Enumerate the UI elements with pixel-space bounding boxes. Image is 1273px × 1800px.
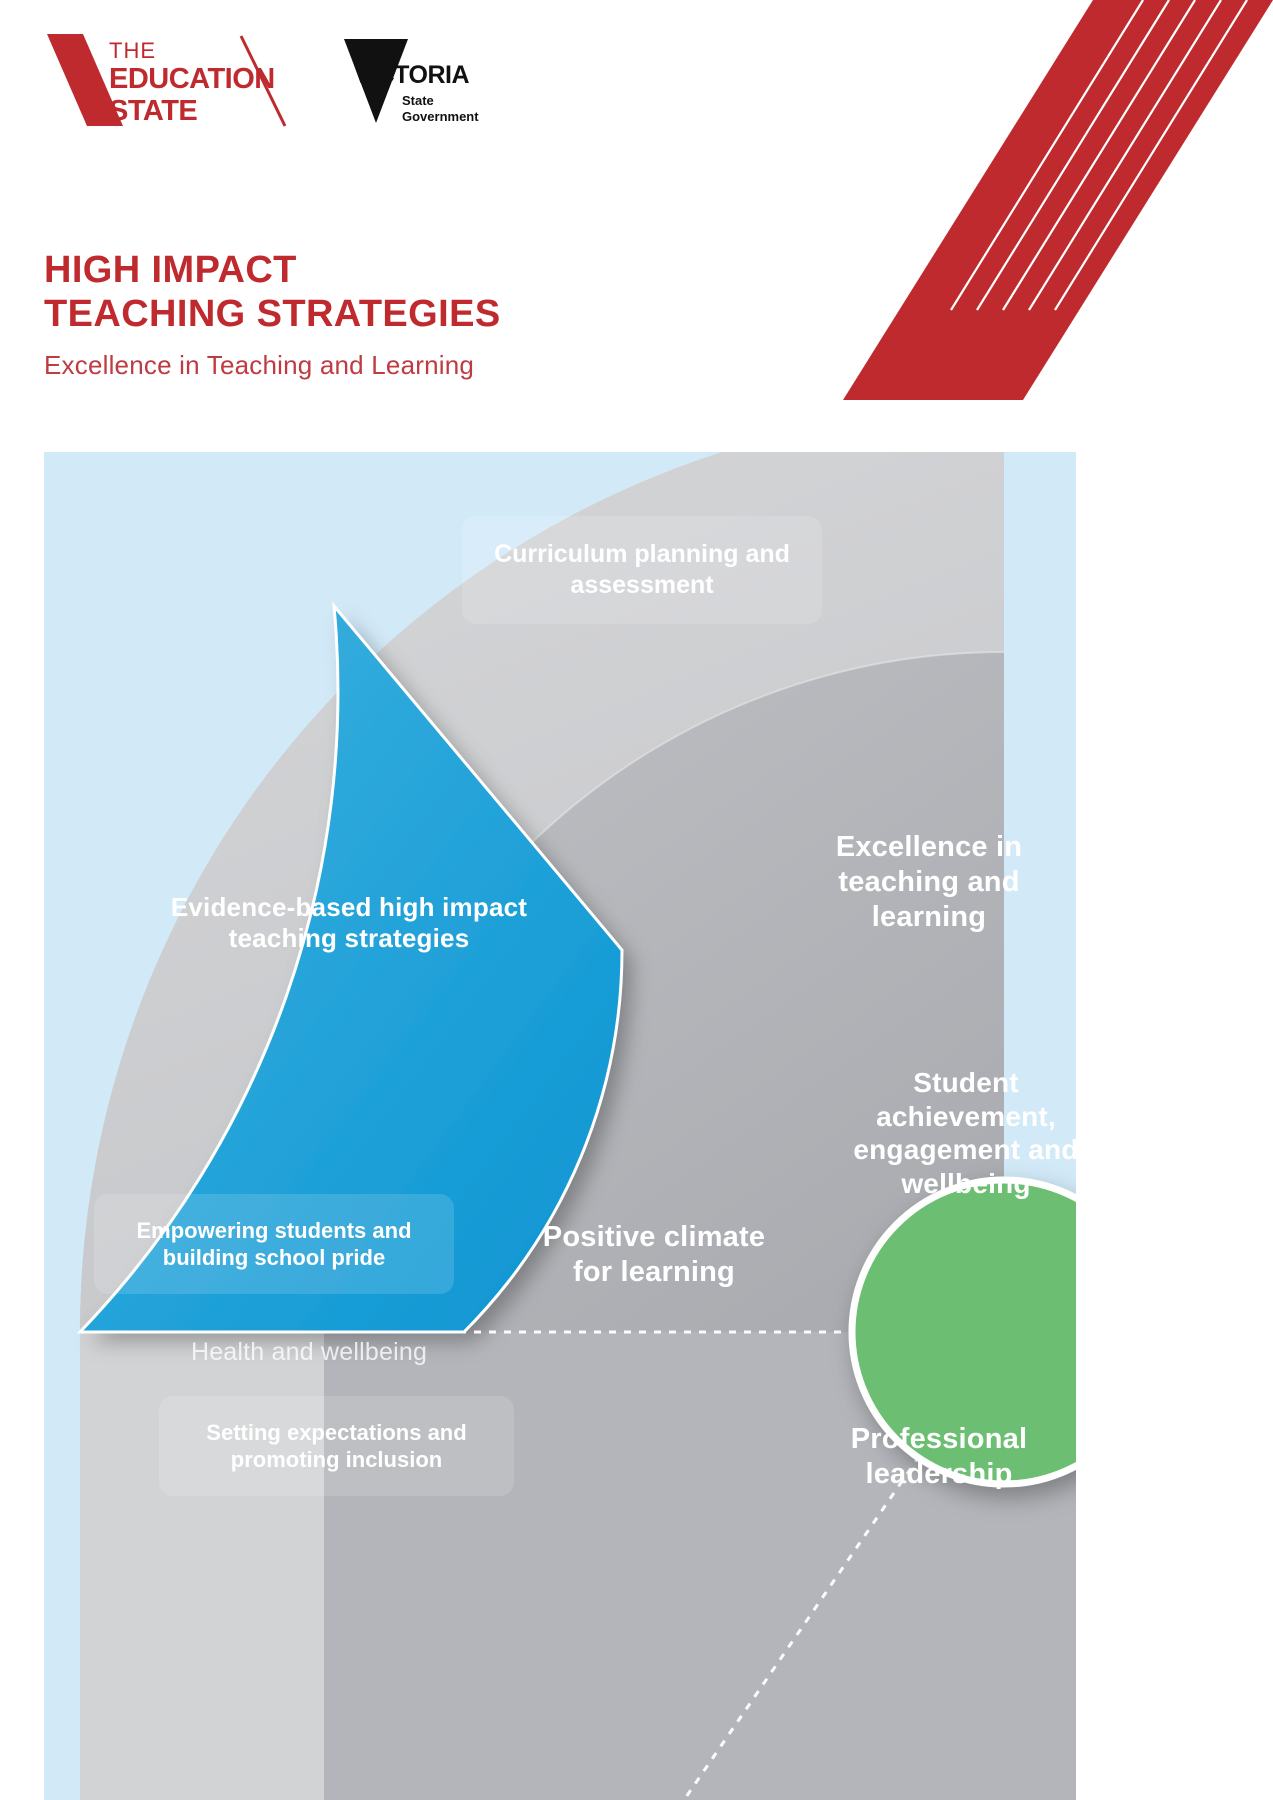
svg-text:EDUCATION: EDUCATION	[109, 63, 275, 95]
victoria-state-government-logo: VICTORIA State Government	[340, 35, 500, 130]
education-state-logo: THE EDUCATION STATE	[45, 30, 315, 130]
label-professional-leadership[interactable]: Professional leadership	[789, 1422, 1076, 1492]
svg-text:THE: THE	[109, 38, 156, 63]
label-setting-expectations[interactable]: Setting expectations and promoting inclu…	[159, 1396, 514, 1496]
title-line-2: TEACHING STRATEGIES	[44, 292, 501, 336]
svg-text:STATE: STATE	[109, 95, 197, 127]
label-positive-climate-for-learning[interactable]: Positive climate for learning	[524, 1220, 784, 1290]
label-health-and-wellbeing[interactable]: Health and wellbeing	[99, 1338, 519, 1367]
framework-diagram: Curriculum planning and assessment Evide…	[44, 452, 1076, 1800]
label-curriculum-planning[interactable]: Curriculum planning and assessment	[462, 516, 822, 624]
label-evidence-based-strategies[interactable]: Evidence-based high impact teaching stra…	[154, 892, 544, 954]
svg-text:VICTORIA: VICTORIA	[354, 61, 469, 89]
label-excellence-in-teaching-and-learning[interactable]: Excellence in teaching and learning	[779, 830, 1076, 934]
label-empowering-students[interactable]: Empowering students and building school …	[94, 1194, 454, 1294]
svg-text:Government: Government	[402, 109, 479, 124]
red-diagonal-banner-graphic	[843, 0, 1273, 400]
svg-text:State: State	[402, 93, 434, 108]
page-subtitle: Excellence in Teaching and Learning	[44, 350, 501, 381]
title-line-1: HIGH IMPACT	[44, 248, 501, 292]
page-title: HIGH IMPACT TEACHING STRATEGIES Excellen…	[44, 248, 501, 381]
page-header: THE EDUCATION STATE VICTORIA State Gover…	[0, 0, 1273, 440]
label-student-achievement-engagement-wellbeing[interactable]: Student achievement, engagement and well…	[826, 1066, 1076, 1200]
